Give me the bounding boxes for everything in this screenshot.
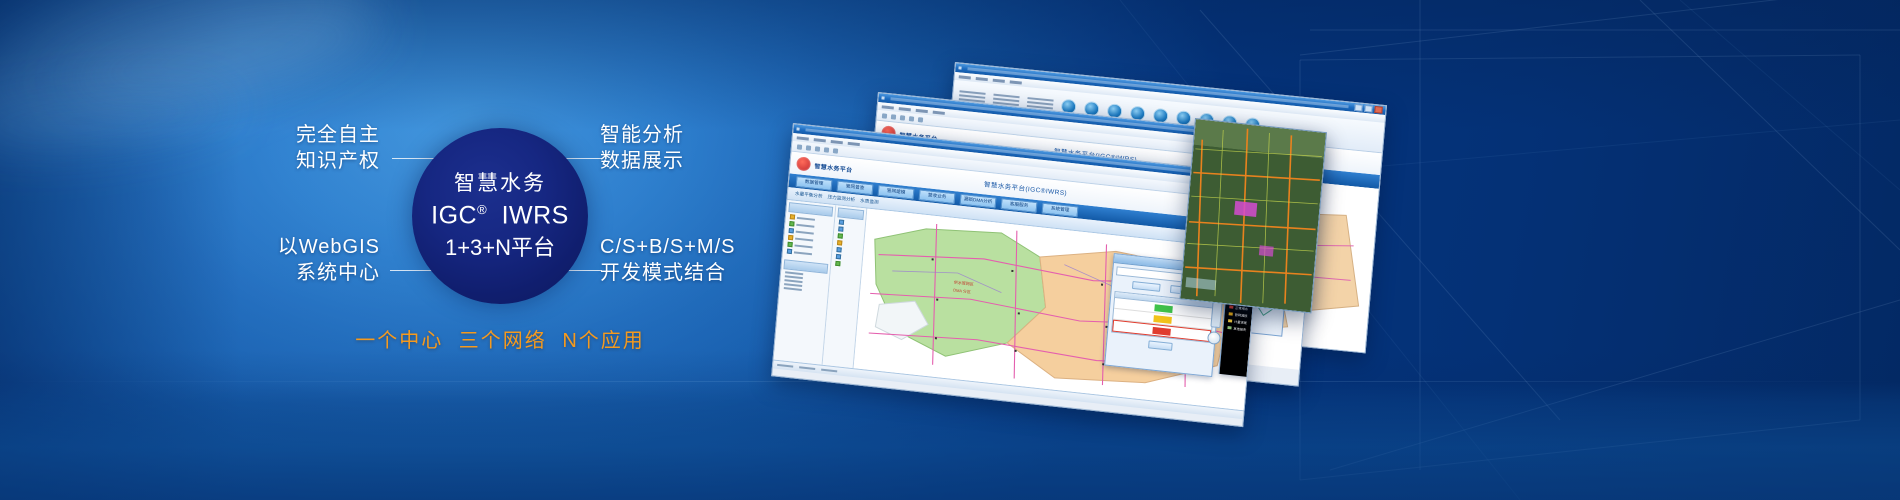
subnav-item[interactable]: 水质监测: [860, 198, 879, 206]
tool-icon: [838, 226, 843, 231]
legend-label: [784, 287, 802, 291]
badge-brand-igc: IGC: [431, 202, 477, 230]
menu-item[interactable]: [882, 105, 894, 109]
feature-label-bottom-left: 以WebGIS 系统中心: [180, 234, 380, 286]
svg-text:计量误差: 计量误差: [1234, 319, 1247, 325]
toolbar-icon[interactable]: [900, 115, 905, 120]
dialog-query-button[interactable]: [1132, 281, 1161, 292]
status-text: [777, 364, 793, 368]
status-text: [821, 369, 837, 373]
menu-item[interactable]: [976, 77, 988, 81]
feature-label-top-left: 完全自主 知识产权: [200, 122, 380, 174]
platform-title: 智慧水务平台(IGC®IWRS): [984, 178, 1068, 197]
menu-item[interactable]: [993, 78, 1005, 82]
map-tools-header: [837, 207, 864, 220]
menu-item[interactable]: [848, 141, 860, 145]
svg-text:管网漏损: 管网漏损: [1235, 312, 1249, 318]
dialog-ok-button[interactable]: [1148, 340, 1173, 350]
menu-item[interactable]: [1010, 80, 1022, 84]
feature-label-line1: C/S+B/S+M/S: [600, 234, 860, 260]
badge-brand-iwrs: IWRS: [502, 202, 569, 230]
layer-label: [797, 216, 815, 220]
feature-label-bottom-right: C/S+B/S+M/S 开发模式结合: [600, 234, 860, 286]
floor-reflection: [0, 382, 1900, 500]
feature-label-line2: 知识产权: [200, 148, 380, 174]
layer-color-swatch: [790, 214, 795, 219]
tagline: 一个中心 三个网络 N个应用: [0, 324, 1000, 353]
tool-icon: [839, 219, 844, 224]
tagline-part-3: N个应用: [562, 330, 644, 352]
titlebar-icon: [881, 96, 884, 99]
menu-item[interactable]: [916, 108, 928, 112]
tagline-part-2: 三个网络: [459, 330, 547, 352]
maximize-button[interactable]: [1364, 105, 1373, 113]
feature-label-line1: 以WebGIS: [180, 234, 380, 260]
badge-platform: 1+3+N平台: [445, 237, 555, 259]
toolbar-icon[interactable]: [891, 114, 896, 119]
menu-item[interactable]: [933, 110, 945, 114]
menu-item[interactable]: [959, 75, 971, 79]
window-aerial-map[interactable]: [1180, 118, 1325, 311]
svg-text:其他损失: 其他损失: [1233, 326, 1247, 332]
status-text: [799, 366, 815, 370]
feature-label-top-right: 智能分析 数据展示: [600, 122, 830, 174]
aerial-map-graphic: [1180, 119, 1325, 312]
feature-label-line2: 开发模式结合: [600, 260, 860, 286]
layer-color-swatch: [789, 221, 794, 226]
feature-label-line2: 系统中心: [180, 260, 380, 286]
toolbar-icon[interactable]: [909, 116, 914, 121]
titlebar-icon: [958, 66, 961, 69]
minimize-button[interactable]: [1354, 104, 1363, 112]
feature-label-line1: 智能分析: [600, 122, 830, 148]
toolbar-icon[interactable]: [833, 148, 838, 153]
toolbar-icon[interactable]: [918, 117, 923, 122]
feature-label-line2: 数据展示: [600, 148, 830, 174]
toolbar-icon[interactable]: [882, 113, 887, 118]
center-badge: 智慧水务 IGC® IWRS 1+3+N平台: [412, 128, 588, 304]
tagline-part-1: 一个中心: [355, 330, 443, 352]
layer-color-swatch: [789, 228, 794, 233]
badge-brand: IGC® IWRS: [431, 203, 569, 228]
subnav-item[interactable]: 水量平衡分析: [795, 191, 823, 200]
menu-item[interactable]: [831, 140, 843, 144]
registered-mark-icon: ®: [477, 202, 487, 217]
badge-title-cn: 智慧水务: [454, 173, 546, 194]
close-button[interactable]: [1374, 106, 1383, 114]
layer-label: [796, 223, 814, 227]
feature-label-line1: 完全自主: [200, 122, 380, 148]
hero-banner: 智慧水务平台 智慧水务平台(IGC®IWRS) 数据管理 管网普查 管网建模 营…: [0, 0, 1900, 500]
menu-item[interactable]: [899, 107, 911, 111]
subnav-item[interactable]: 压力监测分析: [827, 194, 855, 203]
